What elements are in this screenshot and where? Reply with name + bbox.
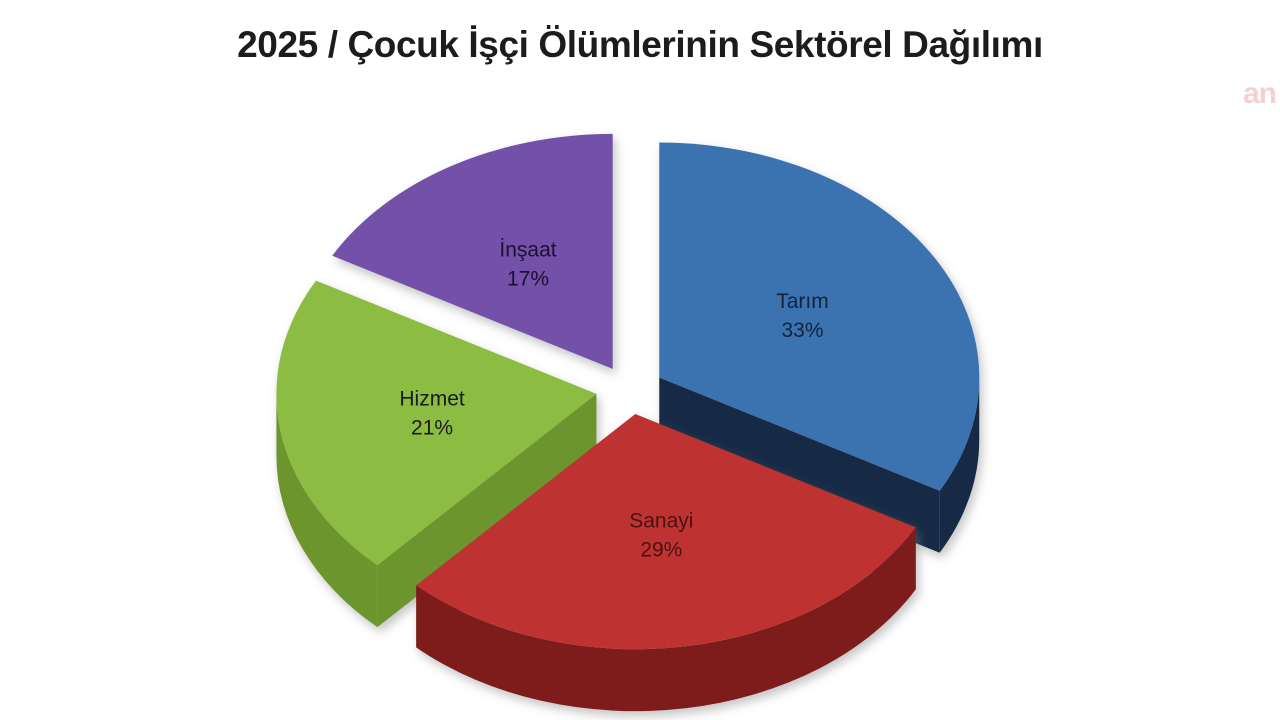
chart-canvas: 2025 / Çocuk İşçi Ölümlerinin Sektörel D… xyxy=(0,0,1280,720)
watermark: an xyxy=(1243,78,1280,110)
slice-label-value: 17% xyxy=(507,267,549,290)
slice-label-value: 21% xyxy=(411,416,453,439)
slice-label-value: 29% xyxy=(640,538,682,561)
slice-label-name: Tarım xyxy=(776,290,829,313)
slice-label-name: İnşaat xyxy=(499,238,556,261)
pie-chart: İnşaat17%Tarım33%Hizmet21%Sanayi29% xyxy=(0,0,1280,720)
pie-slices xyxy=(276,134,979,711)
slice-label-value: 33% xyxy=(781,319,823,342)
slice-label-name: Sanayi xyxy=(629,509,693,532)
slice-label-name: Hizmet xyxy=(399,387,465,410)
